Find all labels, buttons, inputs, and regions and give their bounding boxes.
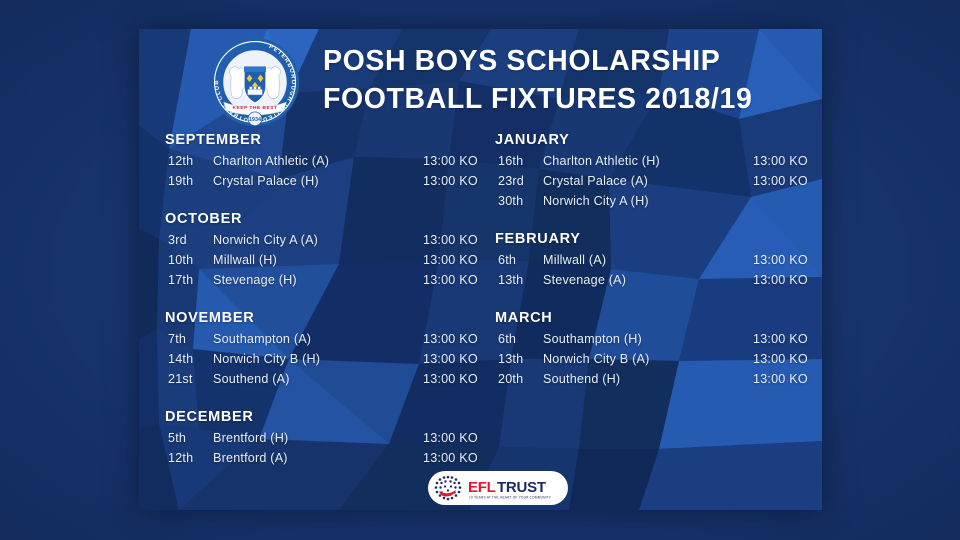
month-heading: DECEMBER [165,409,495,425]
fixture-opponent: Norwich City A (H) [543,194,753,208]
poster-title-line-2: FOOTBALL FIXTURES 2018/19 [323,81,752,119]
month-heading: FEBRUARY [495,231,822,247]
fixture-row: 17thStevenage (H)13:00 KO [165,273,495,293]
fixture-opponent: Southend (H) [543,372,753,386]
fixture-columns: SEPTEMBER12thCharlton Athletic (A)13:00 … [139,132,822,477]
fixture-row: 5thBrentford (H)13:00 KO [165,431,495,451]
month-block: OCTOBER3rdNorwich City A (A)13:00 KO10th… [165,211,495,293]
fixture-kickoff: 13:00 KO [423,451,495,465]
fixture-row: 12thBrentford (A)13:00 KO [165,451,495,471]
fixture-opponent: Stevenage (H) [213,273,423,287]
fixture-date: 20th [495,372,543,386]
svg-text:KEEP THE BEST: KEEP THE BEST [233,105,278,111]
fixture-date: 7th [165,332,213,346]
fixture-row: 14thNorwich City B (H)13:00 KO [165,352,495,372]
fixture-opponent: Crystal Palace (A) [543,174,753,188]
poster-header: PETERBOROUGH UNITED FOOTBALL CLUB [139,29,822,132]
fixture-kickoff: 13:00 KO [753,352,822,366]
fixture-kickoff: 13:00 KO [753,273,822,287]
fixture-kickoff: 13:00 KO [423,253,495,267]
poster-titles: POSH BOYS SCHOLARSHIP FOOTBALL FIXTURES … [323,43,752,119]
fixture-kickoff: 13:00 KO [423,273,495,287]
fixture-row: 20thSouthend (H)13:00 KO [495,372,822,392]
fixture-kickoff: 13:00 KO [753,174,822,188]
trust-wordmark: TRUST [497,479,546,496]
fixture-kickoff: 13:00 KO [423,431,495,445]
fixture-row: 7thSouthampton (A)13:00 KO [165,332,495,352]
fixture-row: 13thNorwich City B (A)13:00 KO [495,352,822,372]
fixture-row: 13thStevenage (A)13:00 KO [495,273,822,293]
month-heading: SEPTEMBER [165,132,495,148]
month-block: FEBRUARY6thMillwall (A)13:00 KO13thSteve… [495,231,822,293]
fixture-opponent: Charlton Athletic (H) [543,154,753,168]
fixture-date: 6th [495,332,543,346]
efl-wordmark: EFL [468,479,496,496]
fixture-row: 6thMillwall (A)13:00 KO [495,253,822,273]
fixture-opponent: Brentford (A) [213,451,423,465]
fixture-kickoff: 13:00 KO [423,174,495,188]
poster-title-line-1: POSH BOYS SCHOLARSHIP [323,43,752,81]
fixture-date: 14th [165,352,213,366]
fixture-kickoff: 13:00 KO [753,332,822,346]
fixture-opponent: Norwich City A (A) [213,233,423,247]
fixture-opponent: Norwich City B (A) [543,352,753,366]
fixture-date: 16th [495,154,543,168]
right-column: JANUARY16thCharlton Athletic (H)13:00 KO… [495,132,822,409]
month-block: DECEMBER5thBrentford (H)13:00 KO12thBren… [165,409,495,471]
fixture-row: 23rdCrystal Palace (A)13:00 KO [495,174,822,194]
fixture-row: 10thMillwall (H)13:00 KO [165,253,495,273]
month-block: JANUARY16thCharlton Athletic (H)13:00 KO… [495,132,822,214]
fixture-date: 23rd [495,174,543,188]
fixture-opponent: Stevenage (A) [543,273,753,287]
fixture-date: 6th [495,253,543,267]
fixture-date: 13th [495,273,543,287]
fixture-date: 21st [165,372,213,386]
fixture-kickoff: 13:00 KO [753,253,822,267]
fixture-date: 19th [165,174,213,188]
fixture-date: 13th [495,352,543,366]
fixture-opponent: Southampton (A) [213,332,423,346]
fixture-kickoff: 13:00 KO [423,154,495,168]
fixtures-poster: PETERBOROUGH UNITED FOOTBALL CLUB [139,29,822,510]
fixture-row: 30thNorwich City A (H) [495,194,822,214]
left-column: SEPTEMBER12thCharlton Athletic (A)13:00 … [165,132,495,488]
fixture-opponent: Brentford (H) [213,431,423,445]
efl-tagline: 10 YEARS AT THE HEART OF YOUR COMMUNITY [469,496,552,500]
fixture-kickoff: 13:00 KO [423,332,495,346]
peterborough-united-crest-icon: PETERBOROUGH UNITED FOOTBALL CLUB [209,36,301,128]
fixture-date: 3rd [165,233,213,247]
svg-text:1934: 1934 [249,117,262,123]
fixture-opponent: Millwall (H) [213,253,423,267]
month-block: MARCH6thSouthampton (H)13:00 KO13thNorwi… [495,310,822,392]
month-block: SEPTEMBER12thCharlton Athletic (A)13:00 … [165,132,495,194]
fixture-date: 30th [495,194,543,208]
efl-trust-logo: EFL TRUST 10 YEARS AT THE HEART OF YOUR … [428,471,568,505]
fixture-date: 12th [165,451,213,465]
fixture-row: 12thCharlton Athletic (A)13:00 KO [165,154,495,174]
fixture-row: 21stSouthend (A)13:00 KO [165,372,495,392]
fixture-date: 12th [165,154,213,168]
month-heading: OCTOBER [165,211,495,227]
fixture-row: 6thSouthampton (H)13:00 KO [495,332,822,352]
fixture-opponent: Charlton Athletic (A) [213,154,423,168]
fixture-kickoff: 13:00 KO [753,154,822,168]
fixture-kickoff: 13:00 KO [423,352,495,366]
fixture-opponent: Crystal Palace (H) [213,174,423,188]
fixture-kickoff: 13:00 KO [753,372,822,386]
fixture-row: 19thCrystal Palace (H)13:00 KO [165,174,495,194]
fixture-row: 16thCharlton Athletic (H)13:00 KO [495,154,822,174]
fixture-opponent: Southampton (H) [543,332,753,346]
month-heading: NOVEMBER [165,310,495,326]
fixture-row: 3rdNorwich City A (A)13:00 KO [165,233,495,253]
fixture-opponent: Norwich City B (H) [213,352,423,366]
fixture-kickoff: 13:00 KO [423,372,495,386]
fixture-kickoff: 13:00 KO [423,233,495,247]
month-heading: MARCH [495,310,822,326]
month-heading: JANUARY [495,132,822,148]
fixture-date: 5th [165,431,213,445]
poster-stage: PETERBOROUGH UNITED FOOTBALL CLUB [0,0,960,540]
fixture-opponent: Millwall (A) [543,253,753,267]
fixture-date: 17th [165,273,213,287]
fixture-date: 10th [165,253,213,267]
fixture-opponent: Southend (A) [213,372,423,386]
month-block: NOVEMBER7thSouthampton (A)13:00 KO14thNo… [165,310,495,392]
